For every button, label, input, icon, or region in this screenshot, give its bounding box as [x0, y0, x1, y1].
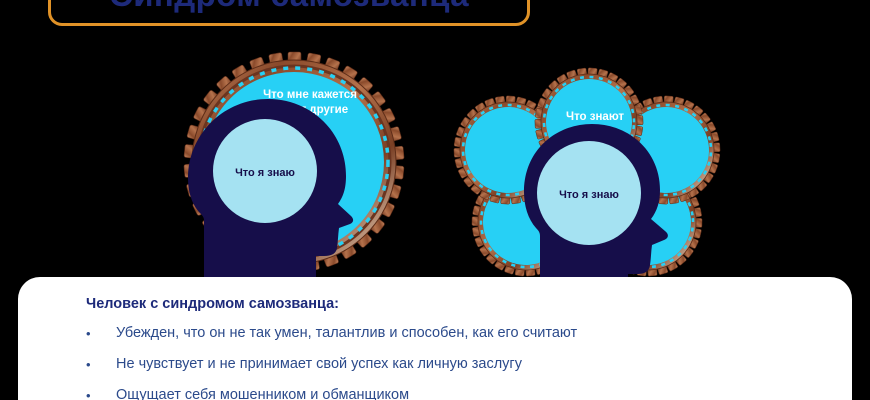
right-outer-label-line1: Что знают — [566, 111, 624, 123]
bullet-marker-icon: • — [86, 380, 116, 400]
bullet-list: •Убежден, что он не так умен, талантлив … — [18, 318, 852, 400]
card-heading: Человек с синдромом самозванца: — [86, 294, 852, 316]
bullet-marker-icon: • — [86, 318, 116, 349]
bullet-text: Ощущает себя мошенником и обманщиком — [116, 380, 409, 400]
right-illustration: Что знают другие Что я знаю — [452, 40, 724, 280]
left-gear-svg: Что мне кажется знают другие Что я знаю — [168, 50, 420, 278]
left-outer-label-line1: Что мне кажется — [263, 89, 357, 101]
page-title: Синдром самозванца — [109, 0, 469, 11]
description-card: Человек с синдромом самозванца: •Убежден… — [18, 277, 852, 400]
bullet-item: •Не чувствует и не принимает свой успех … — [86, 349, 852, 380]
left-illustration: Что мне кажется знают другие Что я знаю — [168, 50, 420, 278]
title-banner: Синдром самозванца — [48, 0, 530, 26]
right-gear-cluster-svg: Что знают другие Что я знаю — [452, 40, 724, 280]
right-inner-label: Что я знаю — [559, 189, 619, 201]
bullet-item: •Ощущает себя мошенником и обманщиком — [86, 380, 852, 400]
slide-canvas: Синдром самозванца — [0, 0, 870, 400]
bullet-marker-icon: • — [86, 349, 116, 380]
left-inner-label: Что я знаю — [235, 167, 295, 179]
bullet-text: Убежден, что он не так умен, талантлив и… — [116, 318, 577, 349]
bullet-item: •Убежден, что он не так умен, талантлив … — [86, 318, 852, 349]
bullet-text: Не чувствует и не принимает свой успех к… — [116, 349, 522, 380]
